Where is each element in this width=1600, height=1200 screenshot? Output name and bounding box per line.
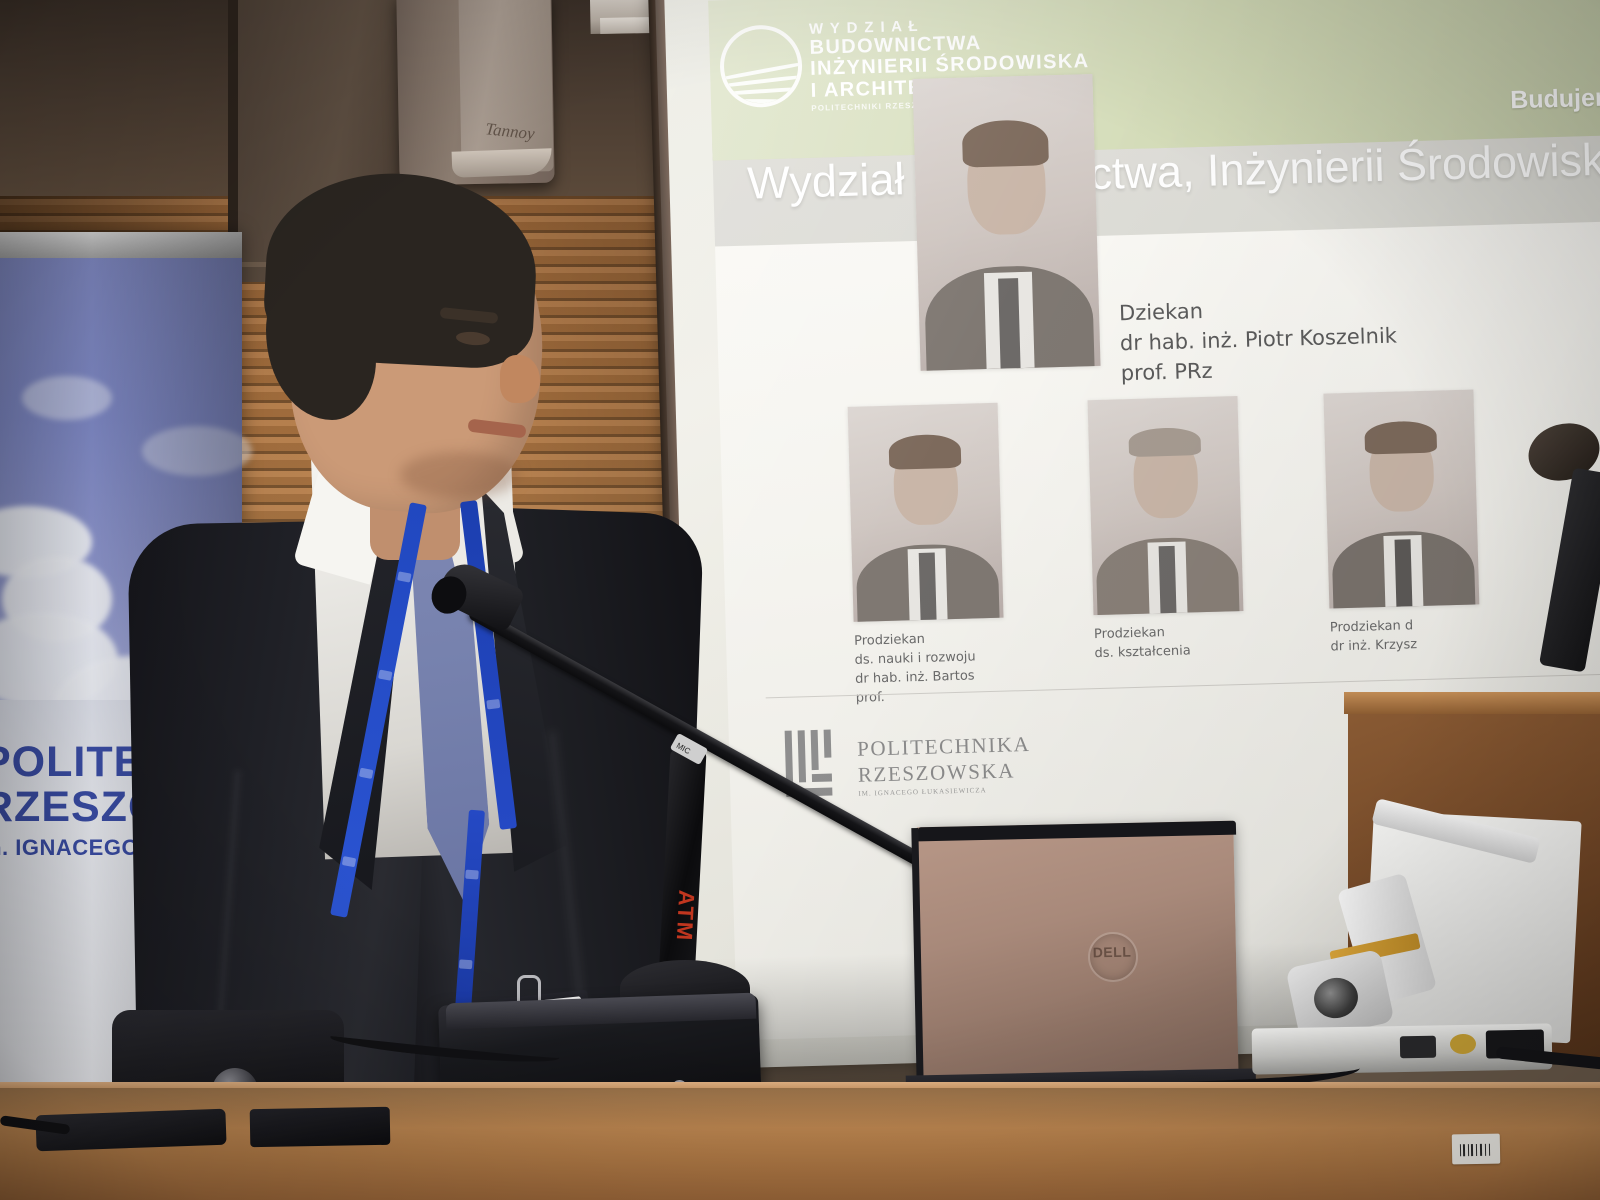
university-footer-logo: POLITECHNIKA RZESZOWSKA IM. IGNACEGO ŁUK… bbox=[785, 720, 1087, 804]
slide-slogan: Budujemy p bbox=[1510, 82, 1600, 115]
lectern-right-top bbox=[1344, 692, 1600, 714]
laptop-brand-label: DELL bbox=[1092, 944, 1132, 961]
chin-shadow bbox=[400, 452, 520, 498]
portrait-vice-dean-1 bbox=[848, 403, 1004, 622]
portrait-dean bbox=[912, 74, 1100, 371]
footer-line-2: RZESZOWSKA bbox=[858, 758, 1032, 788]
nose bbox=[500, 355, 540, 403]
portrait-vice-dean-3 bbox=[1323, 389, 1479, 608]
hair-back bbox=[266, 270, 376, 420]
microphone-brand-label: ATM bbox=[671, 889, 700, 942]
desk-shadow bbox=[0, 1088, 1600, 1128]
ceiling-speaker-face bbox=[458, 0, 553, 173]
inventory-barcode-sticker bbox=[1452, 1134, 1501, 1165]
university-footer-text: POLITECHNIKA RZESZOWSKA IM. IGNACEGO ŁUK… bbox=[857, 732, 1032, 799]
screenshot-root: Tannoy POLITECH RZESZOW m. IGNACEGO Ł bbox=[0, 0, 1600, 1200]
presenter-person: XXXII Janusz MILLER Politechnika Rzeszow… bbox=[70, 170, 630, 1110]
dean-caption: Dziekan dr hab. inż. Piotr Koszelnik pro… bbox=[1119, 292, 1398, 389]
usb-port-icon[interactable] bbox=[1400, 1036, 1436, 1059]
vice-dean-2-caption: Prodziekan ds. kształcenia bbox=[1094, 620, 1315, 664]
small-desk-device[interactable] bbox=[250, 1107, 391, 1147]
vice-dean-1-caption: Prodziekan ds. nauki i rozwoju dr hab. i… bbox=[854, 626, 1086, 708]
portrait-vice-dean-2 bbox=[1088, 396, 1244, 615]
laptop-lid bbox=[915, 821, 1238, 1090]
